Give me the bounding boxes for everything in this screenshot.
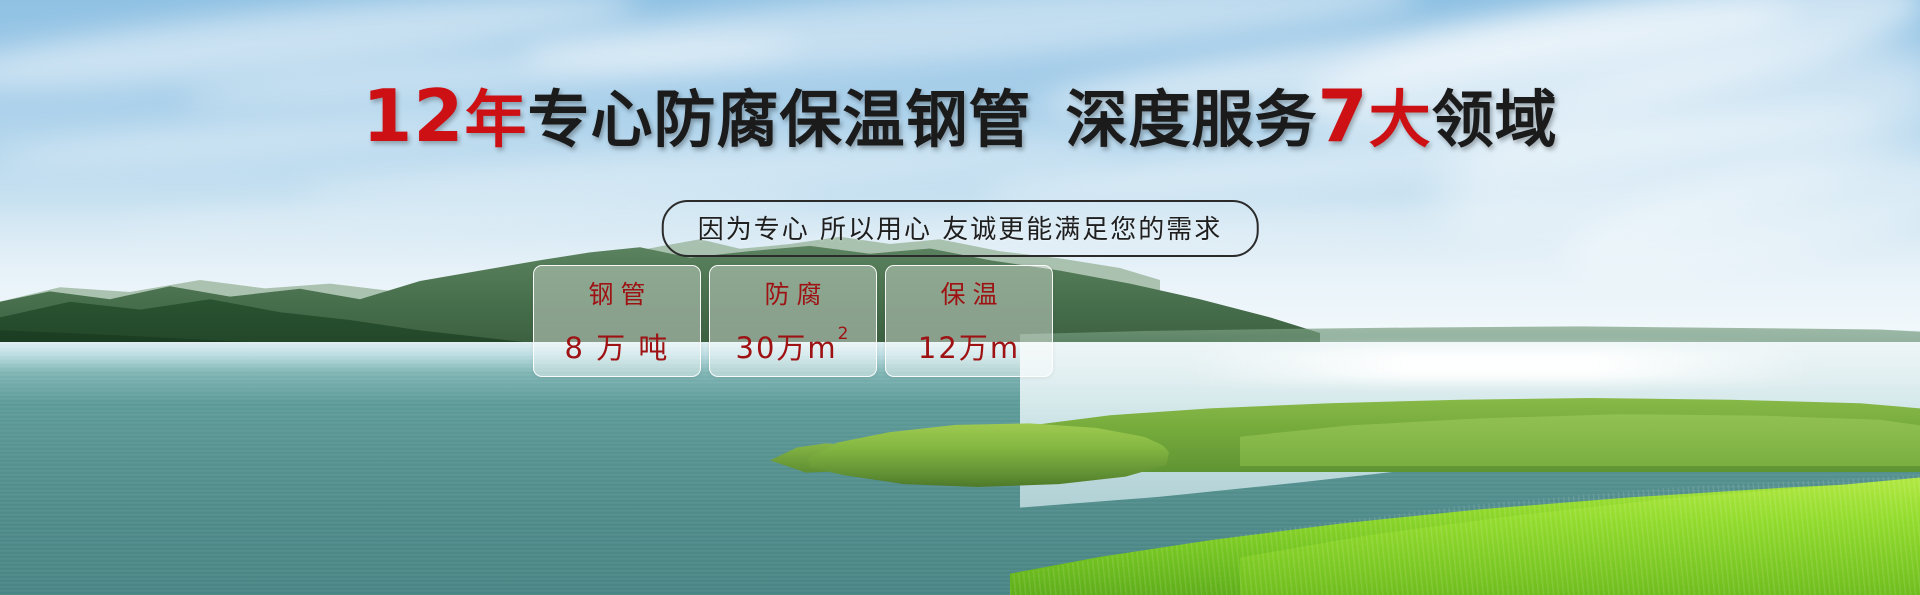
stat-card-label: 保温 (933, 275, 1004, 311)
stat-card-insulation[interactable]: 保温 12万m (885, 265, 1053, 377)
stat-card-steel-pipe[interactable]: 钢管 8 万 吨 (533, 265, 701, 377)
headline-years-unit: 年 (465, 83, 528, 156)
stat-card-value: 30万m2 (736, 325, 851, 367)
headline-fields-number: 7 (1318, 74, 1369, 158)
stat-card-group: 钢管 8 万 吨 防腐 30万m2 保温 12万m (533, 265, 1053, 377)
stat-card-value-superscript: 2 (838, 326, 851, 343)
stat-card-label: 防腐 (757, 275, 828, 311)
stat-card-value-text: 8 万 吨 (565, 325, 670, 367)
headline-main-phrase: 专心防腐保温钢管 (528, 83, 1032, 156)
stat-card-value-text: 30万m (736, 325, 838, 367)
banner-headline: 12年专心防腐保温钢管深度服务7大领域 (0, 84, 1920, 152)
headline-fields-suffix: 领域 (1432, 83, 1558, 156)
headline-years-number: 12 (362, 74, 464, 158)
hero-banner: 12年专心防腐保温钢管深度服务7大领域 因为专心 所以用心 友诚更能满足您的需求… (0, 0, 1920, 595)
stat-card-value: 8 万 吨 (565, 325, 670, 367)
stat-card-value: 12万m (918, 325, 1020, 367)
headline-service-phrase: 深度服务 (1066, 83, 1318, 156)
water-sun-glint (1180, 348, 1820, 382)
headline-fields-unit: 大 (1369, 83, 1432, 156)
stat-card-value-text: 12万m (918, 325, 1020, 367)
stat-card-label: 钢管 (581, 275, 652, 311)
banner-subtitle-pill: 因为专心 所以用心 友诚更能满足您的需求 (662, 200, 1259, 257)
stat-card-anticorrosion[interactable]: 防腐 30万m2 (709, 265, 877, 377)
